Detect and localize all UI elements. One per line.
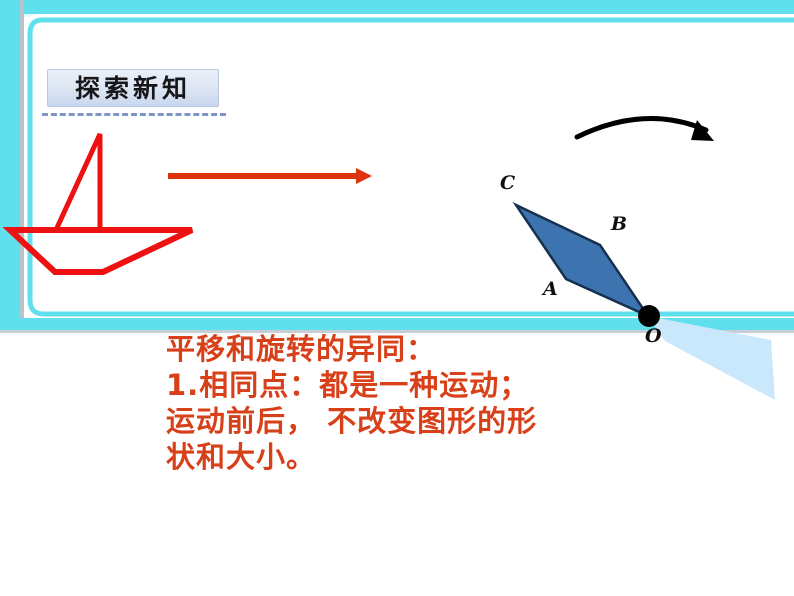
frame-interior [24,14,794,318]
parallelogram-shape [516,205,648,316]
vertex-label-b: B [611,215,627,234]
section-title-underline [42,113,226,116]
frame-bottom-band [0,318,794,330]
rotation-arc-arrow-icon [577,119,714,141]
rotation-pivot-dot [638,305,660,327]
section-title-label: 探索新知 [75,76,191,101]
frame-left-shadow [20,0,24,330]
frame-top-band-highlight [0,14,794,17]
frame-inner-outline [30,20,794,314]
frame-top-band [0,0,794,14]
sailboat-translation-figure [10,134,192,272]
vertex-label-c: C [500,174,515,193]
boat-hull-icon [10,230,192,272]
rotation-arc-head [691,120,714,141]
translation-arrow-head [356,168,372,184]
translation-arrow-icon [168,168,372,184]
frame-left-band [0,0,20,330]
section-title-badge: 探索新知 [47,69,219,107]
boat-sail-icon [56,134,100,230]
slide-canvas: 探索新知 C B A O 平移 [0,0,794,596]
slide-frame [0,0,794,340]
rotation-arc-shaft [577,119,706,137]
vertex-label-a: A [543,280,558,299]
lesson-body-text: 平移和旋转的异同： 1.相同点：都是一种运动； 运动前后， 不改变图形的形 状和… [166,332,686,476]
